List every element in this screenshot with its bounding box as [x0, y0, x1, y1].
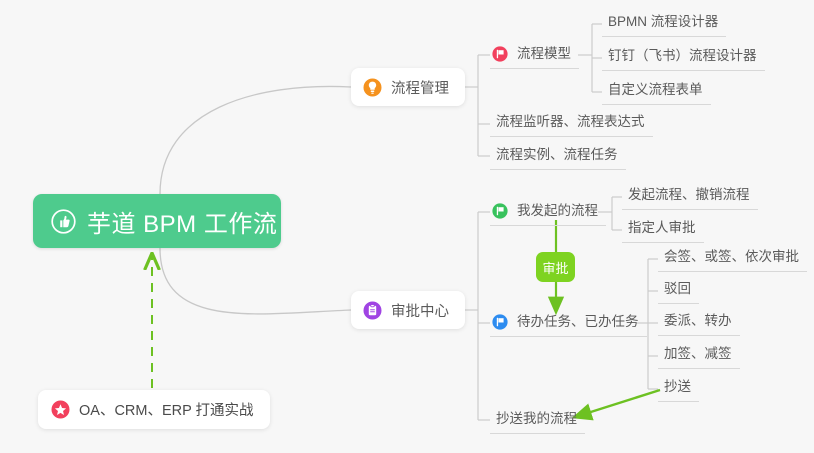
arrow-cc-to-ccmine — [575, 390, 660, 417]
leaf-reject[interactable]: 驳回 — [658, 279, 699, 304]
leaf-label: 我发起的流程 — [517, 201, 598, 220]
branch-node-approval-center[interactable]: 审批中心 — [351, 291, 465, 329]
lightbulb-icon — [363, 78, 382, 97]
mindmap-canvas: 芋道 BPM 工作流 流程管理 审批中心 — [0, 0, 814, 453]
leaf-label: 流程模型 — [517, 44, 571, 63]
leaf-custom-form[interactable]: 自定义流程表单 — [602, 80, 711, 105]
leaf-add-remove-sign[interactable]: 加签、减签 — [658, 344, 740, 369]
leaf-cc-my-processes[interactable]: 抄送我的流程 — [490, 409, 585, 434]
branch-label: 流程管理 — [391, 77, 449, 98]
branch-label: 审批中心 — [391, 300, 449, 321]
leaf-bpmn-designer[interactable]: BPMN 流程设计器 — [602, 12, 726, 37]
leaf-my-started-processes[interactable]: 我发起的流程 — [490, 201, 606, 226]
leaf-start-cancel-process[interactable]: 发起流程、撤销流程 — [622, 185, 758, 210]
root-node[interactable]: 芋道 BPM 工作流 — [33, 194, 281, 248]
flag-blue-icon — [492, 314, 508, 330]
leaf-process-instance[interactable]: 流程实例、流程任务 — [490, 145, 626, 170]
flag-green-icon — [492, 203, 508, 219]
wire-root-to-process — [160, 86, 351, 194]
wire-root-to-approval — [160, 248, 351, 314]
document-icon — [363, 301, 382, 320]
leaf-countersign[interactable]: 会签、或签、依次审批 — [658, 247, 807, 272]
root-label: 芋道 BPM 工作流 — [87, 204, 277, 239]
leaf-process-listener[interactable]: 流程监听器、流程表达式 — [490, 112, 653, 137]
leaf-cc[interactable]: 抄送 — [658, 377, 699, 402]
branch-node-process-management[interactable]: 流程管理 — [351, 68, 465, 106]
leaf-label: 待办任务、已办任务 — [517, 312, 639, 331]
flag-red-icon — [492, 46, 508, 62]
leaf-dingtalk-designer[interactable]: 钉钉（飞书）流程设计器 — [602, 46, 765, 71]
star-icon — [51, 400, 70, 419]
approval-badge: 审批 — [536, 252, 575, 282]
footer-label: OA、CRM、ERP 打通实战 — [79, 399, 254, 420]
leaf-delegate-transfer[interactable]: 委派、转办 — [658, 311, 740, 336]
thumbs-up-icon — [51, 209, 76, 234]
leaf-process-model[interactable]: 流程模型 — [490, 44, 579, 69]
leaf-todo-done-tasks[interactable]: 待办任务、已办任务 — [490, 312, 647, 337]
footer-node-integration[interactable]: OA、CRM、ERP 打通实战 — [38, 390, 270, 429]
leaf-assignee-approval[interactable]: 指定人审批 — [622, 218, 704, 243]
